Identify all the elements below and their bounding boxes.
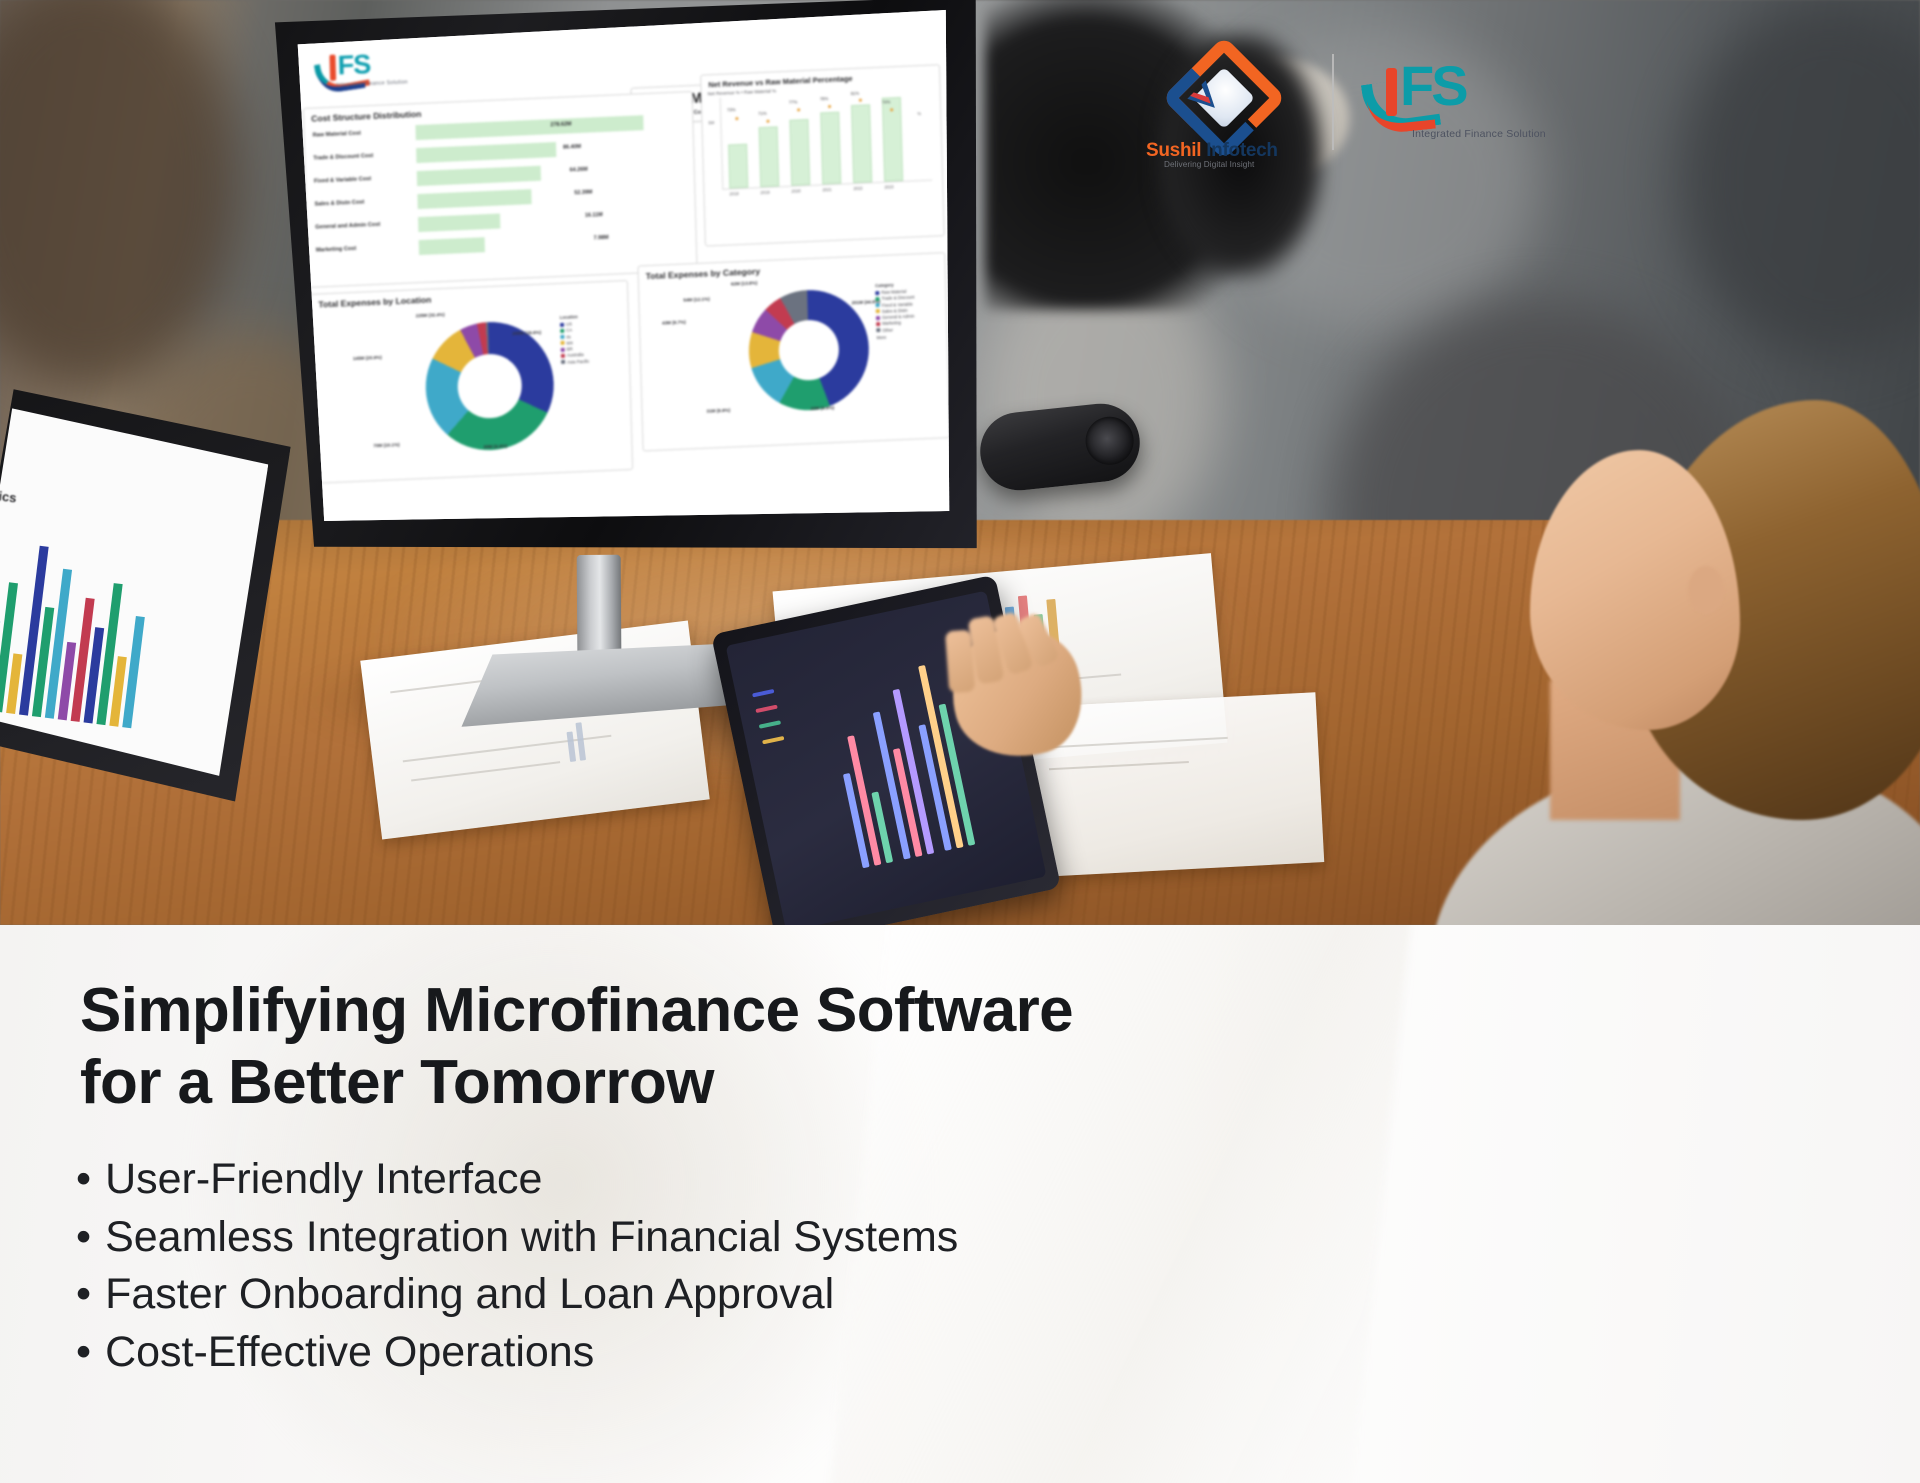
bar-fill: [417, 189, 531, 209]
y2-axis-label: %: [917, 111, 921, 116]
promo-text-panel: Simplifying Microfinance Software for a …: [0, 925, 1920, 1483]
legend-swatch: [876, 328, 880, 332]
net-revenue-chart: 73% 71% 77% 78% 81% 74% 2018 2019 2020 2…: [706, 88, 938, 190]
list-item-label: Cost-Effective Operations: [105, 1328, 594, 1376]
donut-data-label: 225M (32.4%): [416, 312, 445, 318]
legend-swatch: [561, 341, 565, 345]
list-item-label: User-Friendly Interface: [105, 1155, 542, 1203]
legend-label: BR: [567, 347, 573, 352]
list-item-label: Faster Onboarding and Loan Approval: [105, 1270, 834, 1318]
legend-label: Raw Material: [881, 289, 906, 295]
bar-label: Marketing Cost: [316, 246, 357, 254]
dashboard-logo-wordmark: FS: [337, 49, 370, 81]
legend-label: General & Admin: [882, 314, 915, 320]
bullet-icon: •: [76, 1155, 91, 1203]
paper-chart-mark: [575, 722, 586, 760]
legend-swatch: [876, 303, 880, 307]
feature-list: •User-Friendly Interface •Seamless Integ…: [76, 1151, 1576, 1381]
bar-value: 86.40M: [563, 144, 581, 151]
location-legend: Location US CA IN MX BR Australia Asia P…: [560, 314, 590, 366]
infotech-name-part2: Infotech: [1206, 140, 1278, 161]
legend-swatch: [560, 335, 564, 339]
combo-bar[interactable]: [759, 126, 780, 187]
donut-data-label: 22M (4.9%): [810, 405, 834, 411]
bar-label: General and Admin Cost: [315, 222, 380, 231]
combo-bar[interactable]: [851, 104, 872, 183]
infotech-tagline: Delivering Digital Insight: [1164, 160, 1254, 169]
legend-item[interactable]: US: [560, 321, 588, 327]
x-axis-tick: 2020: [791, 188, 800, 193]
legend-title: Location: [560, 314, 588, 320]
list-item: •Cost-Effective Operations: [76, 1324, 1576, 1382]
desktop-monitor: FS Integrated Finance Solution 278.62M R…: [260, 0, 995, 576]
cost-structure-bars: Raw Material Cost 278.62M Trade & Discou…: [310, 110, 690, 264]
legend-label: IN: [566, 334, 570, 339]
bar-fill: [418, 214, 500, 233]
combo-point-label: 73%: [727, 107, 736, 112]
bar-label: Raw Material Cost: [313, 131, 361, 139]
donut-data-label: 70M (10.1%): [373, 442, 399, 448]
tablet-legend-swatch: [755, 705, 777, 713]
legend-label: Other: [882, 327, 893, 332]
tablet-legend-swatch: [759, 720, 781, 728]
category-legend: Category Raw Material Trade & Discount F…: [875, 282, 916, 342]
logo-bar-icon: [329, 55, 336, 81]
dashboard-logo: FS Integrated Finance Solution: [315, 47, 424, 98]
cost-structure-panel[interactable]: Cost Structure Distribution Raw Material…: [303, 91, 698, 288]
combo-line-point[interactable]: [797, 108, 800, 111]
logo-divider: [1332, 54, 1334, 150]
donut-data-label: 54M (12.1%): [683, 296, 709, 302]
net-revenue-panel[interactable]: Net Revenue vs Raw Material Percentage N…: [700, 64, 945, 246]
combo-line-point[interactable]: [766, 120, 769, 123]
paper-line: [1049, 761, 1189, 770]
headline-line-1: Simplifying Microfinance Software: [80, 975, 1480, 1047]
legend-swatch: [561, 360, 565, 364]
legend-swatch: [876, 316, 880, 320]
legend-swatch: [876, 309, 880, 313]
combo-point-label: 77%: [789, 99, 798, 104]
legend-label: US: [566, 321, 572, 326]
legend-title: Category: [875, 282, 914, 289]
legend-swatch: [875, 297, 879, 301]
bar-fill: [416, 142, 556, 163]
person-silhouette: [1410, 330, 1920, 925]
bullet-icon: •: [76, 1328, 91, 1376]
legend-swatch: [561, 354, 565, 358]
paper-line: [1048, 737, 1228, 748]
expenses-by-location-panel[interactable]: Total Expenses by Location 225M (32.4%) …: [310, 280, 633, 484]
tablet-legend-swatch: [752, 689, 774, 697]
bar-label: Sales & Distn Cost: [315, 199, 365, 207]
x-axis-tick: 2023: [884, 184, 893, 189]
legend-item[interactable]: CA: [560, 327, 588, 333]
combo-bar[interactable]: [820, 112, 841, 185]
donut-data-label: 31M (6.9%): [706, 408, 730, 414]
legend-label: Fixed & Variable: [882, 301, 913, 307]
paper-line: [411, 761, 560, 781]
brand-logo-group: Sushil Infotech Delivering Digital Insig…: [1140, 52, 1570, 172]
legend-label: Asia Pacific: [567, 359, 589, 365]
x-axis-tick: 2019: [760, 190, 769, 195]
legend-swatch: [876, 322, 880, 326]
y-axis-label: 5M: [708, 120, 714, 125]
legend-item[interactable]: IN: [560, 333, 588, 339]
headline-line-2: for a Better Tomorrow: [80, 1047, 1480, 1119]
monitor-screen: FS Integrated Finance Solution 278.62M R…: [291, 8, 963, 547]
office-photo: FS Integrated Finance Solution 278.62M R…: [0, 0, 1920, 925]
infotech-wordmark: Sushil Infotech: [1146, 140, 1321, 162]
person-ear: [1688, 566, 1724, 614]
donut-data-label: 30M (4.4%): [483, 443, 507, 449]
bar-value: 16.11M: [585, 212, 603, 219]
bar-fill: [419, 237, 485, 255]
legend-label: Sales & Distn: [882, 308, 908, 314]
legend-label: Marketing: [882, 321, 901, 327]
donut-data-label: 43M (9.7%): [662, 319, 686, 325]
financial-dashboard[interactable]: FS Integrated Finance Solution 278.62M R…: [291, 8, 963, 547]
laptop-bar: [122, 616, 145, 728]
ifs-wordmark: FS: [1400, 58, 1466, 114]
legend-swatch: [560, 329, 564, 333]
donut-data-label: 145M (20.9%): [353, 355, 382, 361]
bar-value: 64.26M: [570, 167, 588, 174]
bar-label: Fixed & Variable Cost: [314, 176, 371, 184]
ifs-logo: FS Integrated Finance Solution: [1362, 58, 1572, 163]
promotional-banner: FS Integrated Finance Solution 278.62M R…: [0, 0, 1920, 1483]
category-donut-chart[interactable]: [747, 288, 870, 413]
ifs-letter-i-icon: [1386, 68, 1397, 116]
legend-swatch: [875, 291, 879, 295]
legend-item[interactable]: Australia: [561, 352, 589, 358]
legend-swatch: [561, 347, 565, 351]
legend-label: Australia: [567, 352, 584, 358]
legend-item[interactable]: Other: [876, 326, 915, 333]
list-item: •Faster Onboarding and Loan Approval: [76, 1266, 1576, 1324]
legend-swatch: [560, 322, 564, 326]
combo-point-label: 71%: [758, 111, 767, 116]
x-axis-tick: 2018: [729, 191, 738, 196]
legend-item[interactable]: Asia Pacific: [561, 359, 589, 365]
donut-data-label: 205M (29.6%): [512, 330, 541, 336]
combo-line-point[interactable]: [828, 105, 831, 108]
legend-more-button[interactable]: More: [876, 333, 915, 340]
expenses-by-category-panel[interactable]: Total Expenses by Category 201M (44.6%) …: [637, 252, 950, 451]
bar-fill: [417, 166, 541, 186]
list-item: •Seamless Integration with Financial Sys…: [76, 1209, 1576, 1267]
x-axis-tick: 2021: [822, 187, 831, 192]
infotech-logo: Sushil Infotech Delivering Digital Insig…: [1140, 52, 1320, 170]
ifs-tagline: Integrated Finance Solution: [1412, 128, 1546, 140]
combo-point-label: 74%: [882, 99, 891, 104]
bar-value: 278.62M: [550, 121, 571, 128]
legend-label: CA: [566, 328, 572, 333]
combo-bar[interactable]: [789, 119, 810, 186]
tablet-legend-swatch: [762, 736, 784, 744]
legend-item[interactable]: BR: [561, 346, 589, 352]
laptop-device: ics: [0, 379, 294, 832]
bar-label: Trade & Discount Cost: [313, 153, 373, 162]
category-donut-wrap: 201M (44.6%) 62M (13.8%) 54M (12.1%) 43M…: [639, 270, 949, 439]
bar-value: 52.39M: [574, 189, 592, 196]
page-title: Simplifying Microfinance Software for a …: [80, 975, 1480, 1119]
combo-line-point[interactable]: [859, 99, 862, 102]
legend-label: MX: [567, 340, 574, 345]
infotech-name-part1: Sushil: [1146, 140, 1201, 161]
combo-point-label: 81%: [851, 91, 860, 96]
location-donut-wrap: 225M (32.4%) 205M (29.6%) 145M (20.9%) 7…: [312, 298, 632, 472]
paper-chart-mark: [567, 731, 577, 762]
combo-line-point[interactable]: [735, 117, 738, 120]
legend-item[interactable]: MX: [561, 340, 589, 346]
donut-data-label: 62M (13.8%): [731, 280, 757, 286]
list-item-label: Seamless Integration with Financial Syst…: [105, 1213, 958, 1261]
bullet-icon: •: [76, 1270, 91, 1318]
bullet-icon: •: [76, 1213, 91, 1261]
location-donut-chart[interactable]: [424, 319, 555, 453]
combo-point-label: 78%: [820, 96, 829, 101]
legend-more-label: More: [876, 335, 886, 340]
x-axis-tick: 2022: [853, 186, 862, 191]
bar-value: 7.98M: [594, 235, 609, 242]
combo-bar[interactable]: [728, 144, 748, 189]
laptop-bar-chart: [0, 491, 249, 740]
list-item: •User-Friendly Interface: [76, 1151, 1576, 1209]
combo-plot-area: 73% 71% 77% 78% 81% 74% 2018 2019 2020 2…: [720, 89, 932, 190]
